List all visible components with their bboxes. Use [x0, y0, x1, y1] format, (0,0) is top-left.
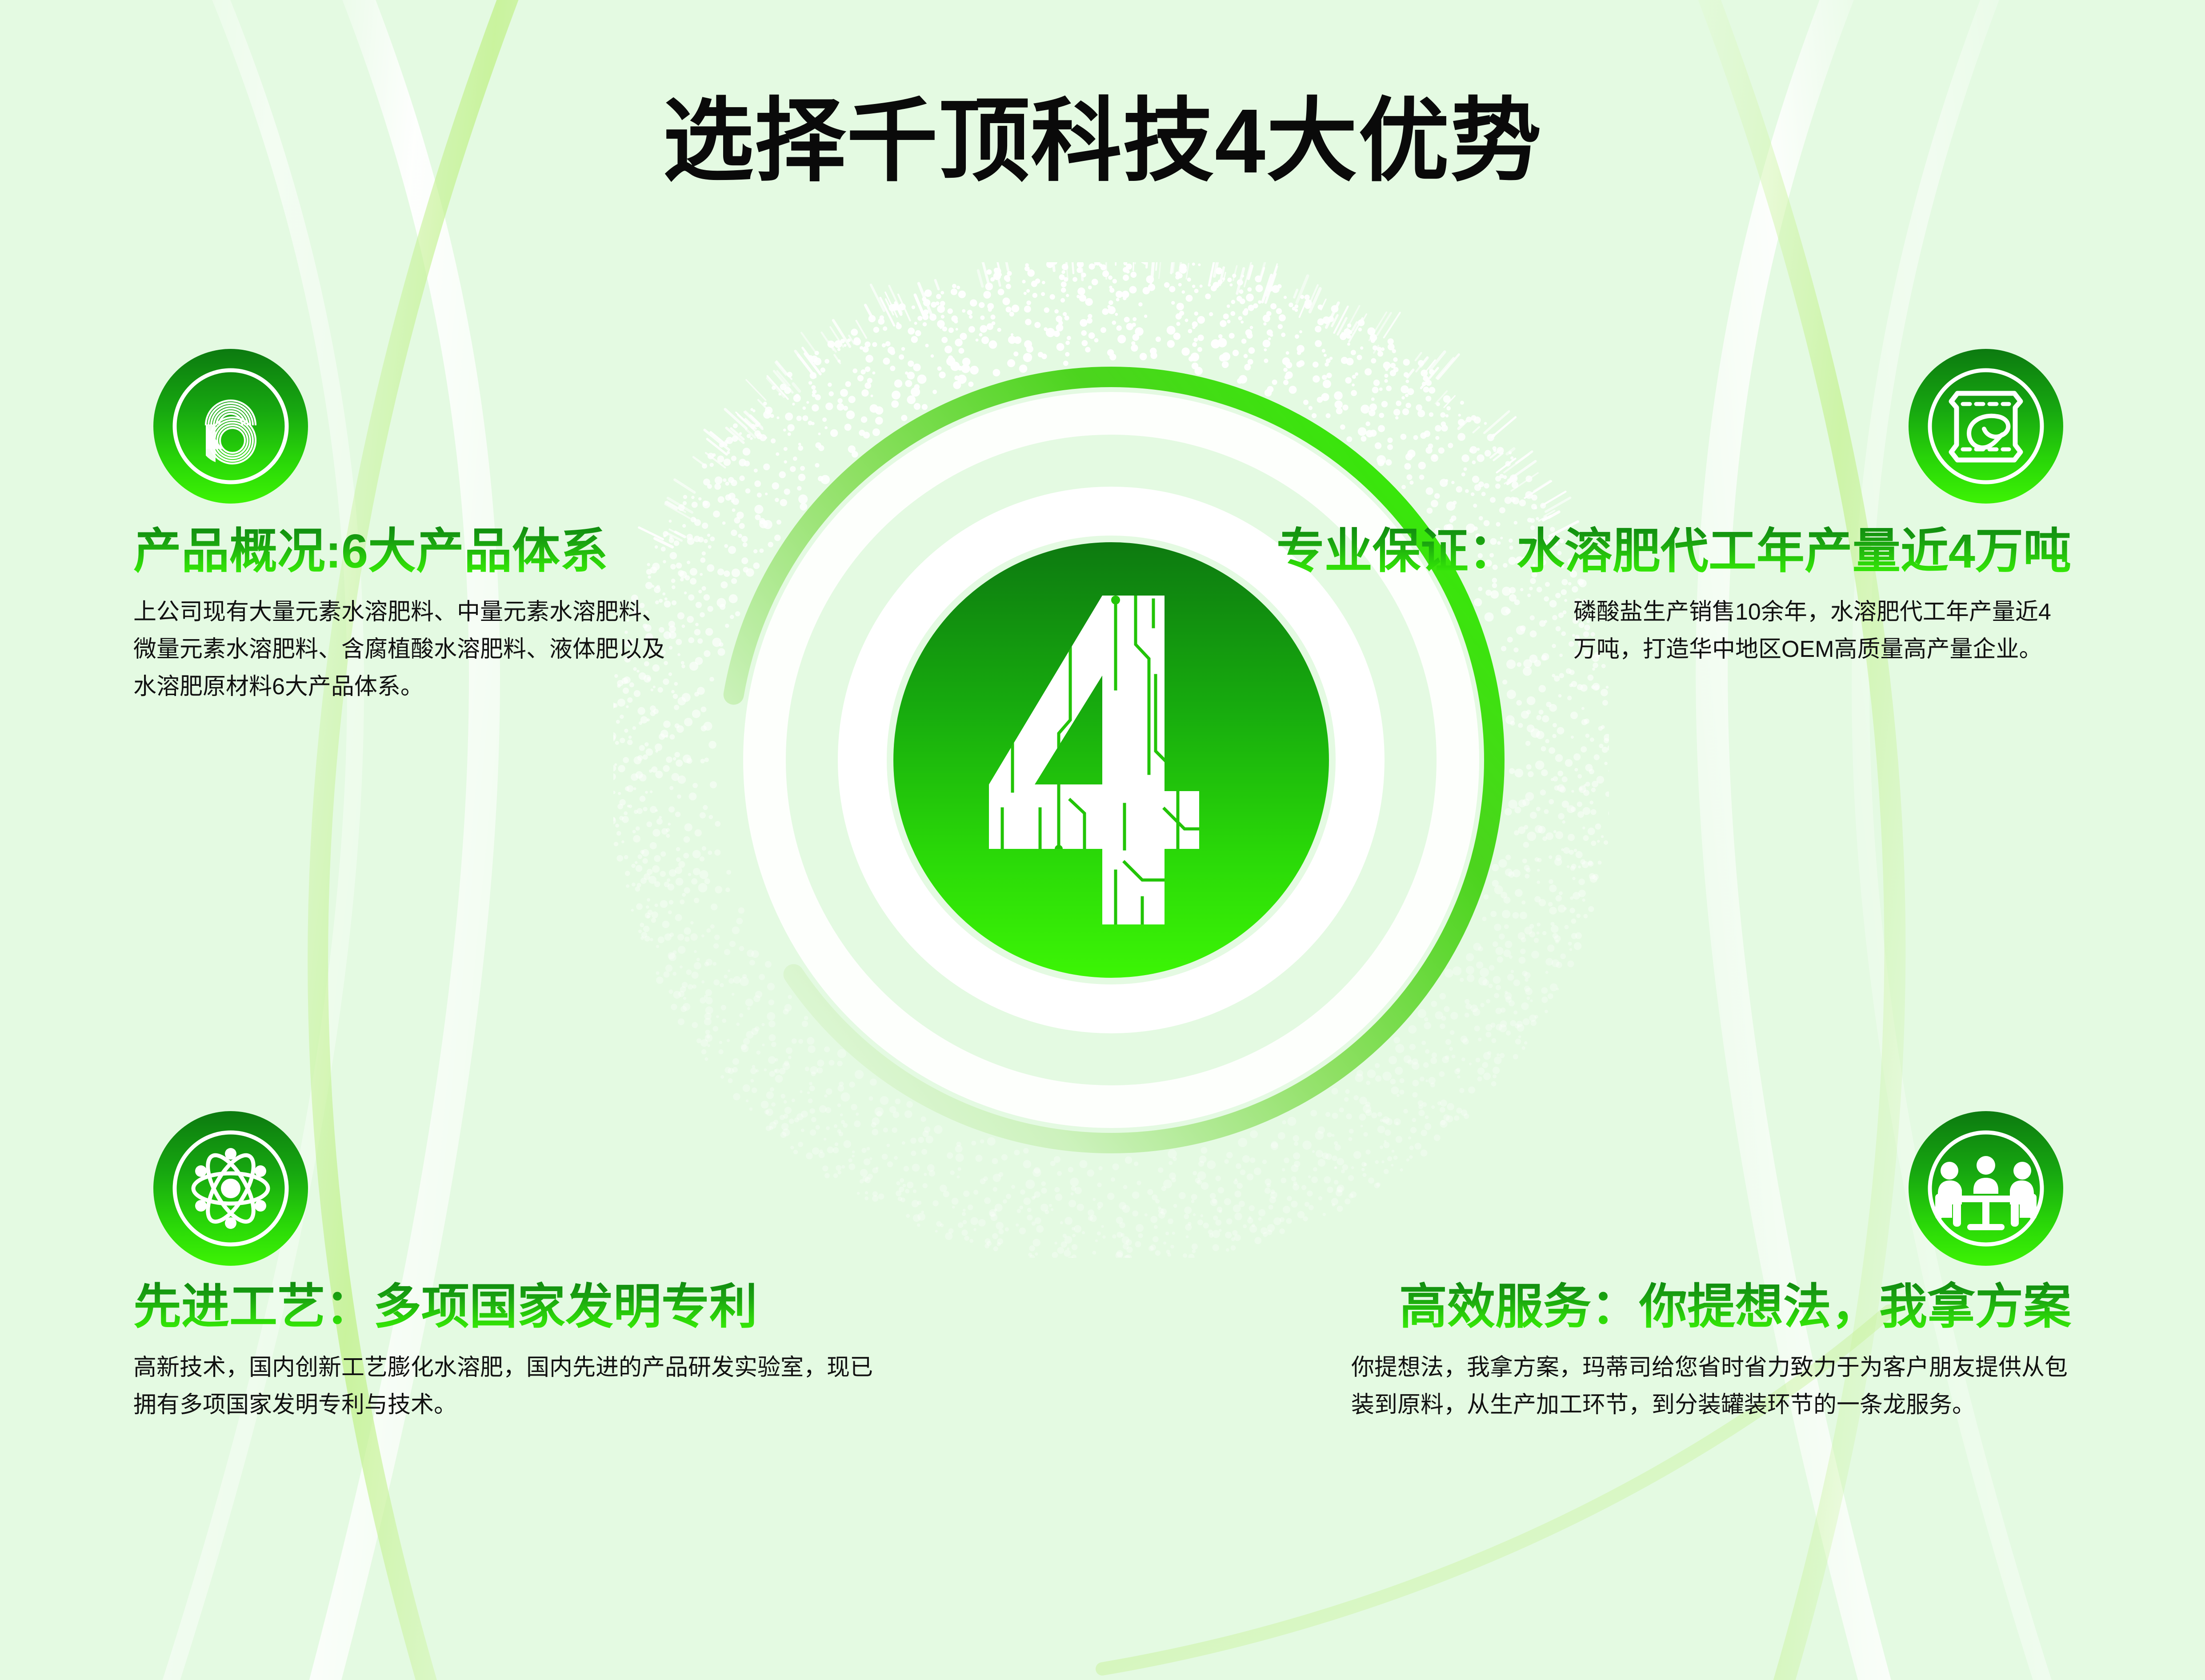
- infographic-canvas: 选择千顶科技4大优势: [0, 0, 2205, 1680]
- advantage-block-product-overview: 产品概况:6大产品体系 上公司现有大量元素水溶肥料、中量元素水溶肥料、微量元素水…: [133, 349, 711, 706]
- advantage-block-efficient-service: 高效服务：你提想法，我拿方案 你提想法，我拿方案，玛蒂司给您省时省力致力于为客户…: [1316, 1111, 2071, 1424]
- fertilizer-bag-icon: [1909, 349, 2063, 504]
- advantage-body: 上公司现有大量元素水溶肥料、中量元素水溶肥料、微量元素水溶肥料、含腐植酸水溶肥料…: [133, 593, 680, 706]
- advantage-block-professional-guarantee: 专业保证：水溶肥代工年产量近4万吨 磷酸盐生产销售10余年，水溶肥代工年产量近4…: [1173, 349, 2071, 668]
- advantage-body: 高新技术，国内创新工艺膨化水溶肥，国内先进的产品研发实验室，现已拥有多项国家发明…: [133, 1349, 880, 1424]
- advantage-body: 你提想法，我拿方案，玛蒂司给您省时省力致力于为客户朋友提供从包装到原料，从生产加…: [1351, 1349, 2071, 1424]
- advantage-block-advanced-technology: 先进工艺：多项国家发明专利 高新技术，国内创新工艺膨化水溶肥，国内先进的产品研发…: [133, 1111, 916, 1424]
- advantage-heading: 先进工艺：多项国家发明专利: [133, 1280, 916, 1334]
- meeting-table-icon: [1909, 1111, 2063, 1266]
- number-six-icon: [153, 349, 308, 504]
- advantage-heading: 高效服务：你提想法，我拿方案: [1316, 1280, 2071, 1334]
- advantage-heading: 专业保证：水溶肥代工年产量近4万吨: [1173, 524, 2071, 578]
- page-title: 选择千顶科技4大优势: [0, 93, 2205, 189]
- advantage-body: 磷酸盐生产销售10余年，水溶肥代工年产量近4万吨，打造华中地区OEM高质量高产量…: [1573, 593, 2071, 668]
- advantage-heading: 产品概况:6大产品体系: [133, 524, 711, 578]
- atom-icon: [153, 1111, 308, 1266]
